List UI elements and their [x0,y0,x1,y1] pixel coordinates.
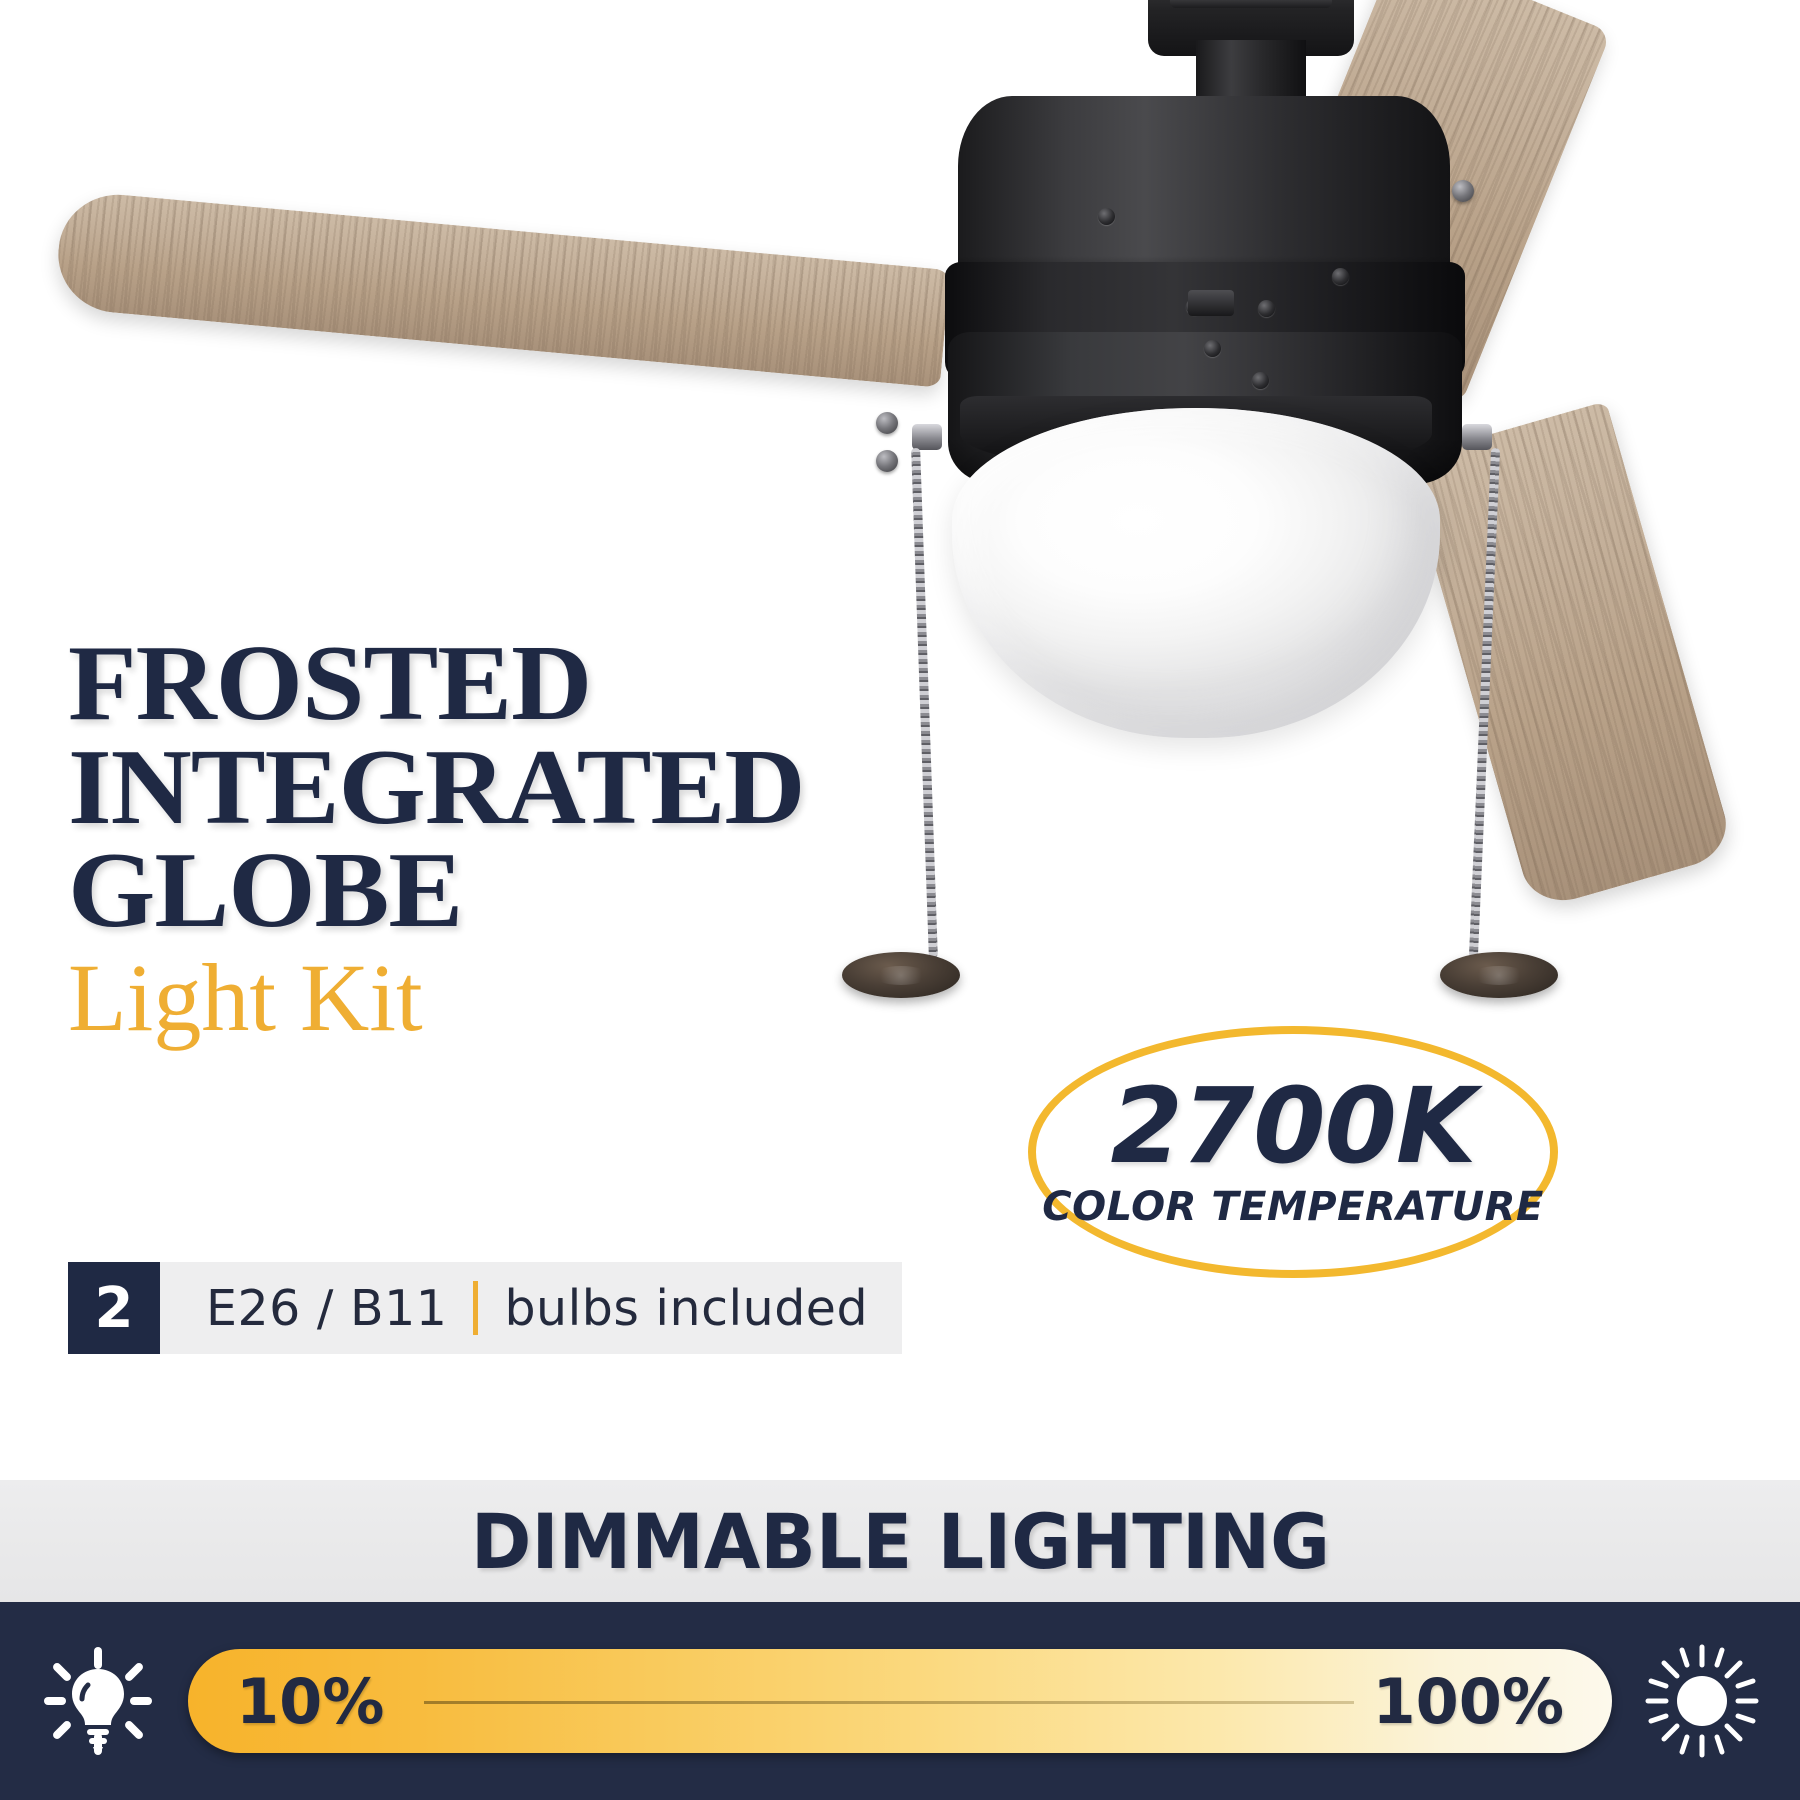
headline-subtitle: Light Kit [68,949,988,1047]
color-temperature-label: COLOR TEMPERATURE [1042,1184,1544,1230]
color-temperature-badge: 2700K COLOR TEMPERATURE [1028,1026,1558,1278]
dimmer-footer: 10% 100% [0,1602,1800,1800]
dimmer-min-label: 10% [236,1665,384,1738]
bulbs-included-note: bulbs included [504,1280,868,1337]
housing-screw-icon [1332,268,1349,285]
housing-screw-icon [1098,208,1115,225]
bulb-spec-body: E26 / B11 bulbs included [160,1262,902,1354]
fan-blade-left [53,190,950,388]
sun-icon [1638,1637,1766,1765]
housing-screw-icon [1252,372,1269,389]
bulb-count-badge: 2 [68,1262,160,1354]
dimmable-lighting-text: DIMMABLE LIGHTING [470,1497,1329,1586]
headline-line-1: FROSTED [68,632,1025,736]
fan-blade-bottom-right [1404,401,1735,911]
spec-divider [473,1281,478,1335]
housing-screw-icon [1258,300,1275,317]
dimmable-lighting-band: DIMMABLE LIGHTING [0,1480,1800,1602]
headline-line-2: INTEGRATED [68,736,1025,840]
headline-block: FROSTED INTEGRATED GLOBE Light Kit [68,632,988,1047]
bulb-base-code: E26 / B11 [206,1280,447,1337]
pull-chain-cap [1462,424,1492,450]
slider-track-rule [424,1701,1354,1704]
frosted-glass-globe [952,408,1440,738]
headline-line-3: GLOBE [68,839,1025,943]
product-marketing-image: FROSTED INTEGRATED GLOBE Light Kit 2 E26… [0,0,1800,1800]
dimmer-slider[interactable]: 10% 100% [188,1649,1612,1753]
blade-bolt-icon [876,412,898,434]
color-temperature-value: 2700K [1110,1074,1475,1178]
bulb-spec-bar: 2 E26 / B11 bulbs included [68,1262,902,1354]
motor-housing-top [958,96,1450,286]
dimmer-max-label: 100% [1372,1665,1564,1738]
blade-bolt-icon [876,450,898,472]
pull-chain-finial [1440,952,1558,998]
housing-screw-icon [1204,340,1221,357]
pull-chain-cap [912,424,942,450]
dim-bulb-icon [34,1637,162,1765]
blade-bolt-icon [1452,180,1474,202]
housing-vent [1188,290,1234,316]
